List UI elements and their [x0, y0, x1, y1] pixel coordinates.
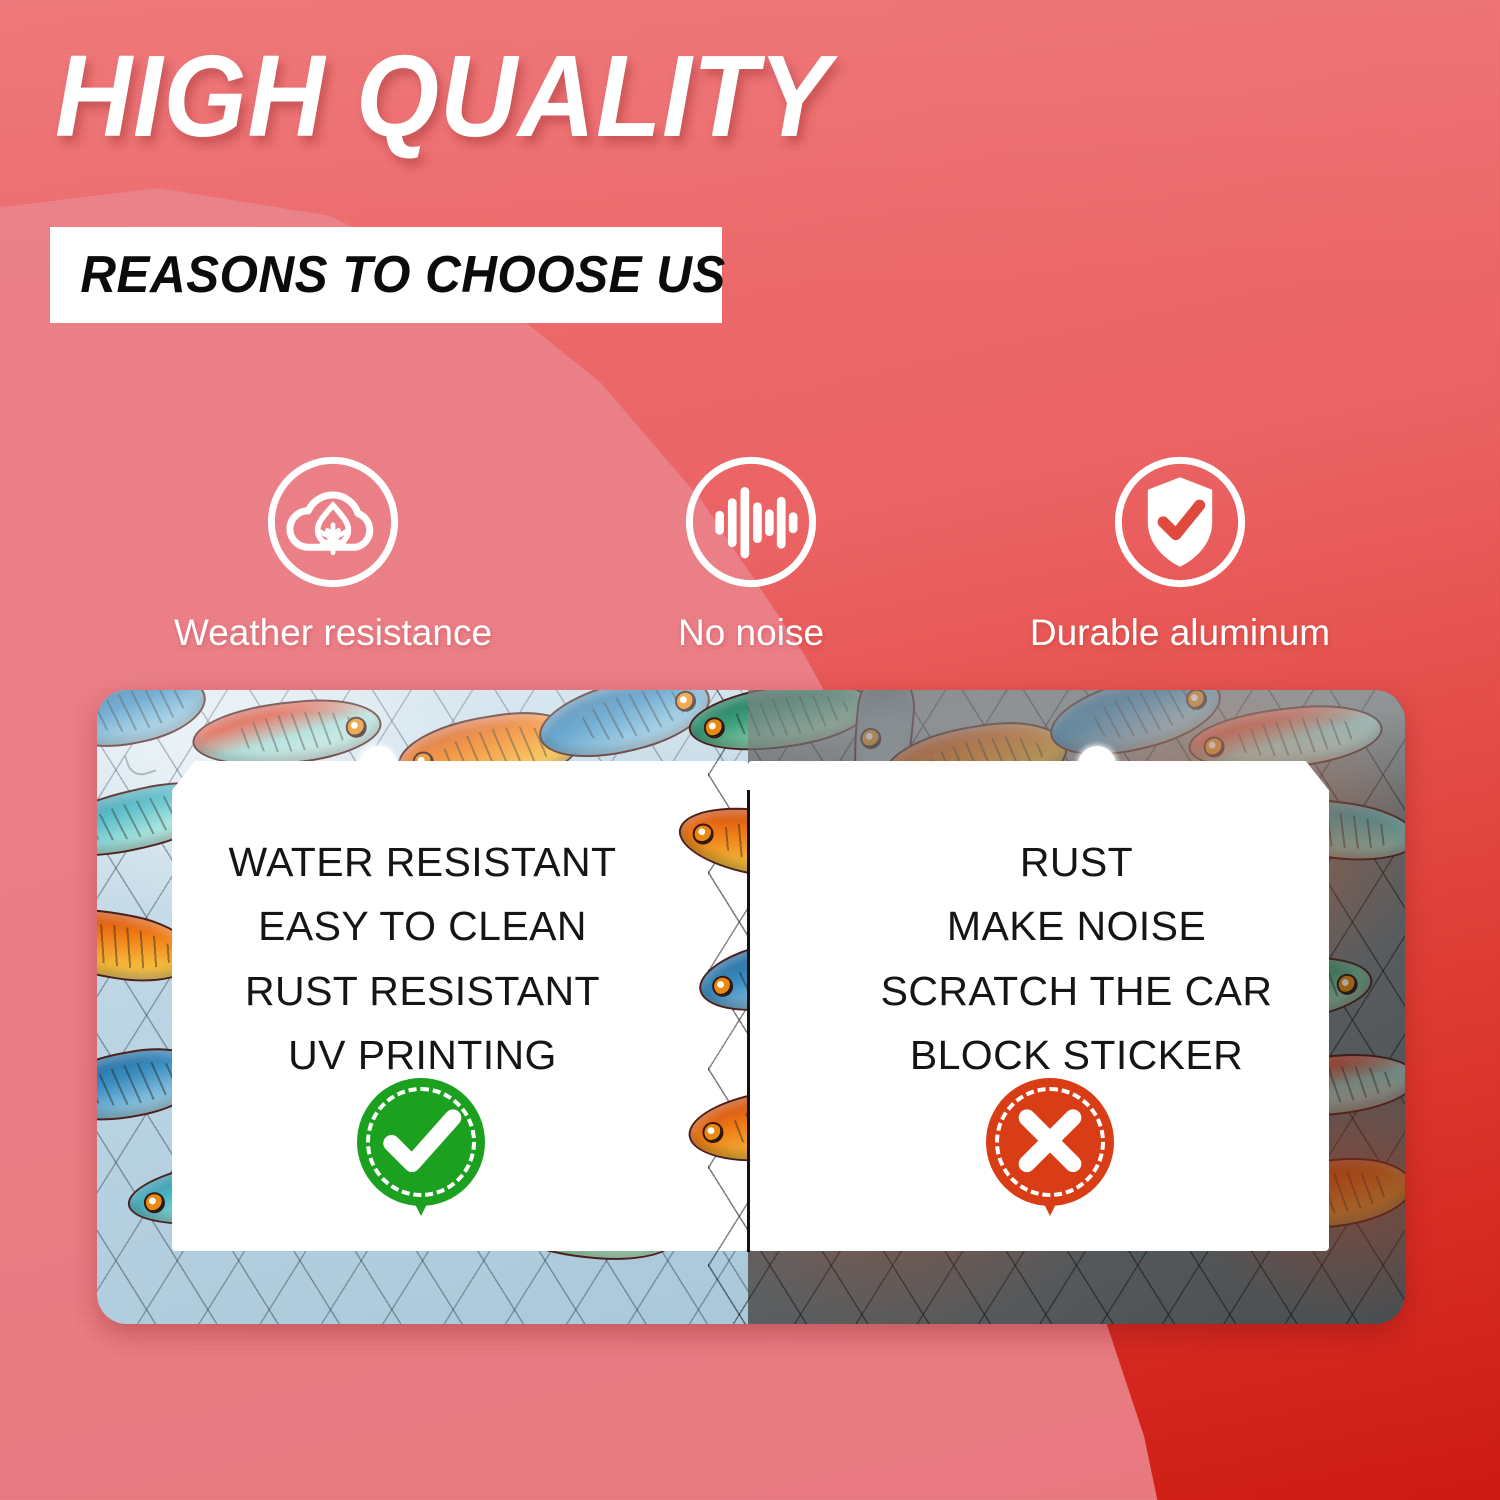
screw-hole: [359, 746, 397, 784]
feature-label: Weather resistance: [174, 612, 492, 654]
cross-mark-icon: [986, 1078, 1114, 1206]
cross-mark-badge: [986, 1078, 1114, 1206]
feature-no-noise: No noise: [620, 452, 882, 654]
plate-half-bad: RUST MAKE NOISE SCRATCH THE CAR BLOCK ST…: [748, 690, 1405, 1324]
list-item: RUST: [748, 830, 1405, 894]
panel-divider: [747, 790, 750, 1252]
sound-wave-icon: [681, 452, 821, 592]
check-mark-icon: [357, 1078, 485, 1206]
license-plate-frame: WATER RESISTANT EASY TO CLEAN RUST RESIS…: [97, 690, 1405, 1324]
feature-weather-resistance: Weather resistance: [157, 452, 509, 654]
bad-feature-list: RUST MAKE NOISE SCRATCH THE CAR BLOCK ST…: [748, 830, 1405, 1087]
subtitle-banner: REASONS TO CHOOSE US: [50, 227, 722, 323]
list-item: SCRATCH THE CAR: [748, 959, 1405, 1023]
screw-hole: [1078, 746, 1116, 784]
list-item: EASY TO CLEAN: [97, 894, 748, 958]
page-title: HIGH QUALITY: [55, 38, 831, 154]
list-item: MAKE NOISE: [748, 894, 1405, 958]
feature-label: No noise: [678, 612, 824, 654]
list-item: WATER RESISTANT: [97, 830, 748, 894]
subtitle-text: REASONS TO CHOOSE US: [50, 245, 726, 305]
shield-check-icon: [1110, 452, 1250, 592]
good-feature-list: WATER RESISTANT EASY TO CLEAN RUST RESIS…: [97, 830, 748, 1087]
feature-label: Durable aluminum: [1030, 612, 1330, 654]
weather-cloud-drop-snowflake-icon: [263, 452, 403, 592]
feature-durable-aluminum: Durable aluminum: [1000, 452, 1360, 654]
check-mark-badge: [357, 1078, 485, 1206]
list-item: RUST RESISTANT: [97, 959, 748, 1023]
plate-half-good: WATER RESISTANT EASY TO CLEAN RUST RESIS…: [97, 690, 748, 1324]
